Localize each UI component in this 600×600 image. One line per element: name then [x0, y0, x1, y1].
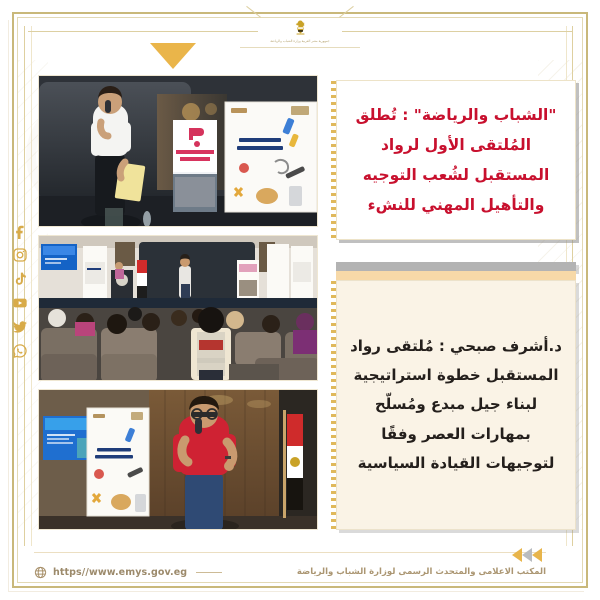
quote-card: د.أشرف صبحي : مُلتقى رواد المستقبل خطوة … — [336, 280, 576, 530]
footer: https//www.emys.gov.eg المكتب الاعلامى و… — [34, 560, 546, 584]
youtube-icon[interactable] — [11, 294, 29, 312]
footer-dash — [196, 572, 222, 573]
photo-column — [38, 75, 318, 530]
quote-card-shadow-bar — [336, 262, 576, 271]
quote-text: د.أشرف صبحي : مُلتقى رواد المستقبل خطوة … — [347, 332, 565, 478]
poster-root: جمهورية مصر العربية وزارة الشباب والرياض… — [0, 0, 600, 600]
header-emblem-notch: جمهورية مصر العربية وزارة الشباب والرياض… — [258, 17, 342, 57]
header-underline — [240, 47, 360, 48]
photo-auditorium-audience — [38, 235, 318, 381]
whatsapp-icon[interactable] — [11, 342, 29, 360]
headline-card: "الشباب والرياضة" : تُطلق المُلتقى الأول… — [336, 80, 576, 240]
footer-divider — [34, 552, 546, 553]
footer-website-url[interactable]: https//www.emys.gov.eg — [53, 567, 187, 578]
chevrons-left-icon — [508, 545, 550, 565]
headline-card-dotted-border — [331, 81, 336, 239]
notch-side-left — [237, 6, 261, 30]
footer-arabic-label: المكتب الاعلامى والمتحدث الرسمى لوزارة ا… — [231, 567, 546, 577]
header-band: جمهورية مصر العربية وزارة الشباب والرياض… — [18, 17, 582, 51]
headline-text: "الشباب والرياضة" : تُطلق المُلتقى الأول… — [347, 100, 565, 221]
quote-card-dotted-border — [331, 281, 336, 529]
globe-icon — [34, 566, 47, 579]
photo-speaker-white-polo — [38, 75, 318, 227]
emblem-caption: جمهورية مصر العربية وزارة الشباب والرياض… — [270, 39, 329, 43]
triangle-down-icon — [150, 43, 196, 69]
instagram-icon[interactable] — [11, 246, 29, 264]
egypt-eagle-emblem — [292, 19, 309, 38]
quote-card-accent-bar — [336, 271, 576, 280]
notch-side-right — [339, 6, 363, 30]
social-media-rail — [7, 222, 33, 360]
tiktok-icon[interactable] — [11, 270, 29, 288]
twitter-icon[interactable] — [11, 318, 29, 336]
photo-speaker-red-polo — [38, 389, 318, 530]
facebook-icon[interactable] — [11, 222, 29, 240]
